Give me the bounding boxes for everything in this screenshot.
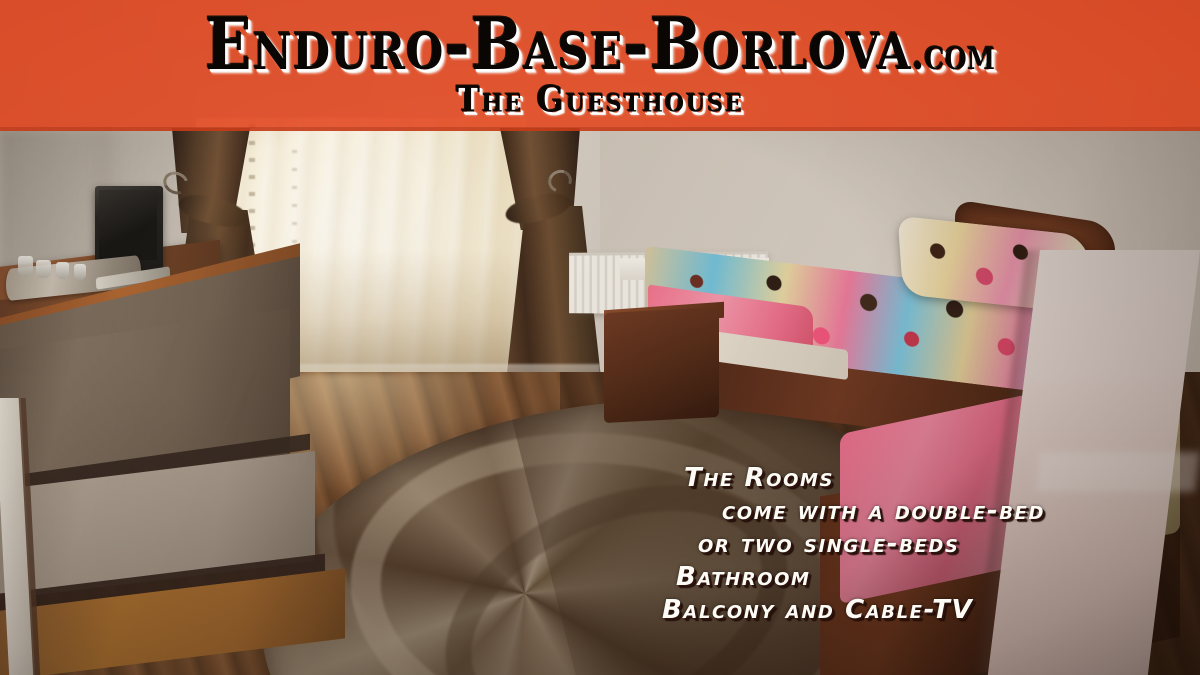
site-header-banner: Enduro-Base-Borlova.com The Guesthouse [0,0,1200,131]
site-title: Enduro-Base-Borlova.com [0,4,1200,87]
drinking-glass [56,262,69,279]
caption-line: or two single-beds [660,528,1080,561]
drinking-glass [18,256,33,276]
drinking-glass [36,260,51,278]
caption-line: The Rooms [660,462,1080,495]
caption-line: come with a double-bed [660,495,1080,528]
room-features-caption: The Rooms come with a double-bed or two … [660,462,1080,627]
drinking-glass [74,264,86,280]
site-title-tld: .com [911,30,995,80]
poster-image: Enduro-Base-Borlova.com The Guesthouse T… [0,0,1200,675]
site-title-main: Enduro-Base-Borlova [205,4,911,87]
bed-upper-footboard [604,307,719,423]
caption-line: Balcony and Cable-TV [660,594,1080,627]
site-subtitle: The Guesthouse [0,78,1200,121]
caption-line: Bathroom [660,561,1080,594]
television-screen [99,190,157,260]
